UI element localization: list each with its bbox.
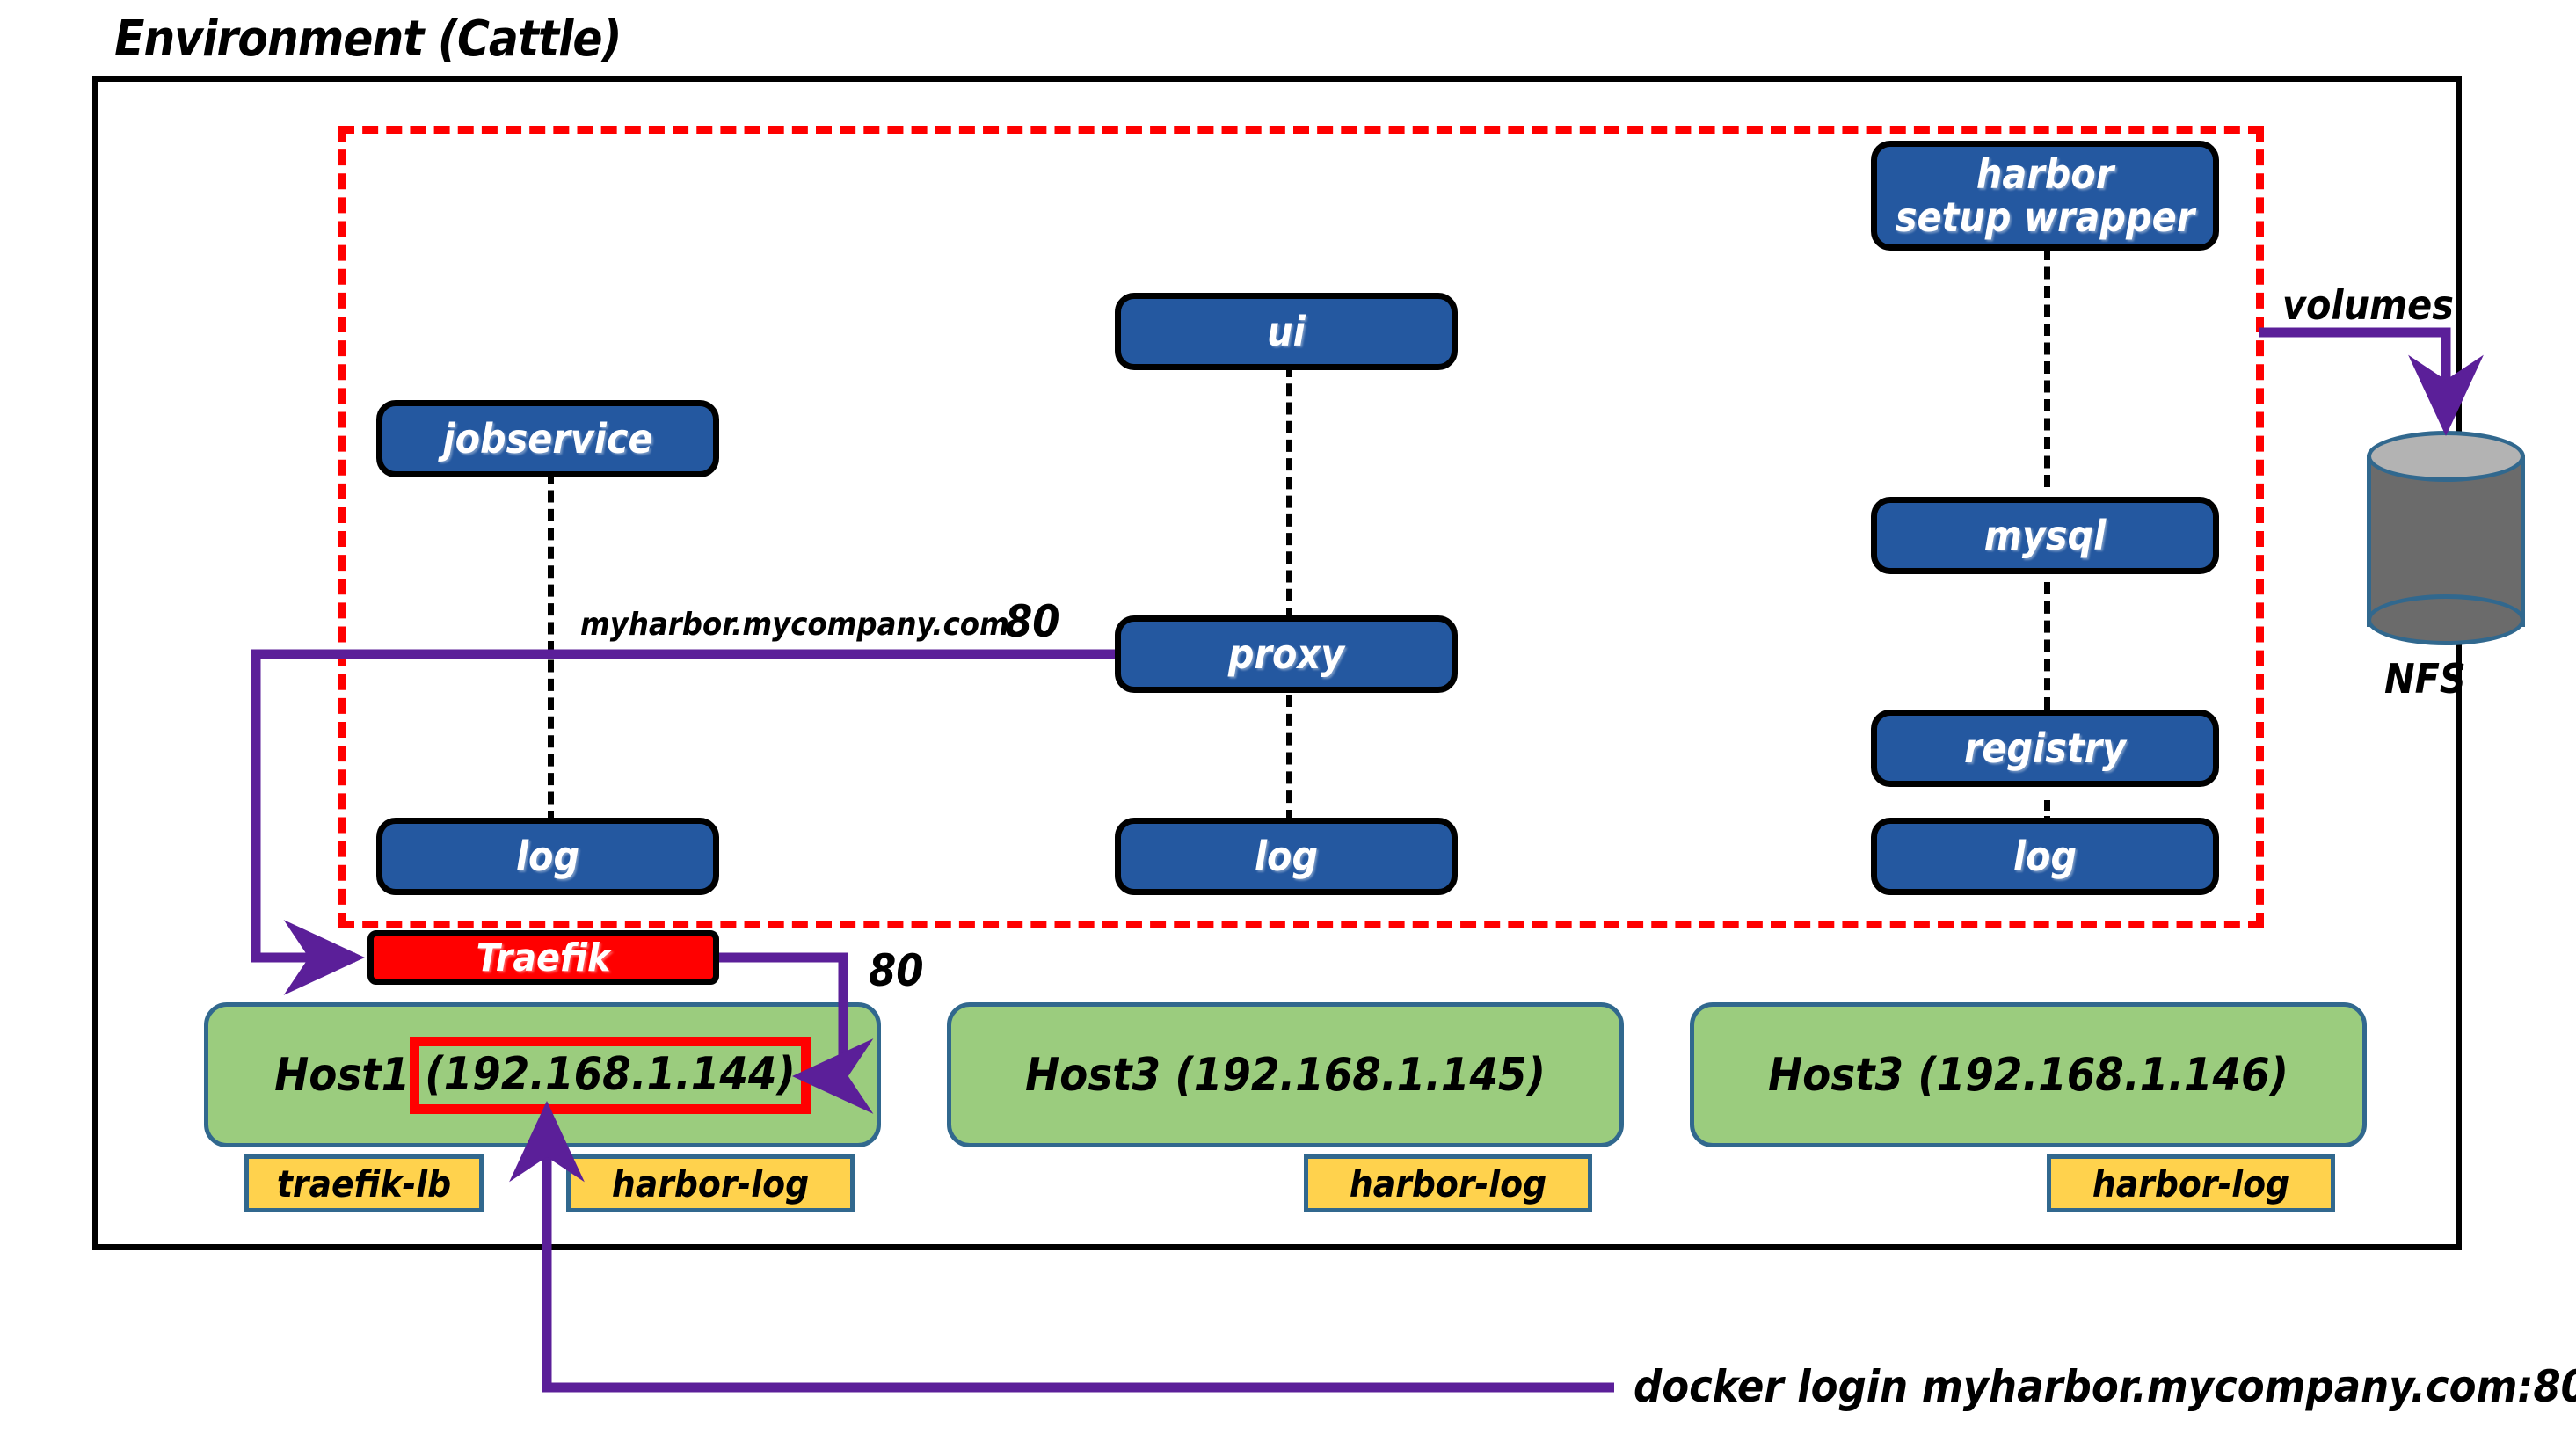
- volumes-label: volumes: [2282, 281, 2454, 329]
- diagram-canvas: Environment (Cattle) jobservice log ui p…: [0, 0, 2576, 1449]
- host-box-3[interactable]: Host3 (192.168.1.146): [1690, 1002, 2367, 1147]
- service-box-jobservice[interactable]: jobservice: [376, 400, 719, 477]
- docker-login-command: docker login myharbor.mycompany.com:80: [1634, 1361, 2576, 1412]
- traefik-box[interactable]: Traefik: [367, 930, 719, 985]
- service-box-registry[interactable]: registry: [1871, 710, 2219, 787]
- nfs-cylinder-bottom: [2367, 594, 2525, 645]
- service-box-log-right[interactable]: log: [1871, 818, 2219, 895]
- port-label-proxy: 80: [1005, 596, 1060, 647]
- host-1-ip-highlight: (192.168.1.144): [410, 1037, 811, 1114]
- connector-jobservice-log: [548, 471, 554, 823]
- nfs-label: NFS: [2384, 655, 2466, 703]
- port-label-traefik: 80: [869, 945, 924, 996]
- hostname-annotation: myharbor.mycompany.com: [580, 607, 1009, 643]
- service-box-ui[interactable]: ui: [1115, 293, 1458, 370]
- page-title: Environment (Cattle): [114, 11, 622, 68]
- connector-mysql-registry: [2044, 582, 2050, 710]
- connector-proxy-log: [1286, 695, 1292, 822]
- host-1-label-traefik-lb[interactable]: traefik-lb: [244, 1154, 484, 1212]
- connector-wrapper-mysql: [2044, 248, 2050, 487]
- service-box-mysql[interactable]: mysql: [1871, 497, 2219, 574]
- host-1-label-harbor-log[interactable]: harbor-log: [566, 1154, 855, 1212]
- service-box-log-middle[interactable]: log: [1115, 818, 1458, 895]
- connector-ui-proxy: [1286, 365, 1292, 620]
- host-box-1[interactable]: Host1 (192.168.1.144): [204, 1002, 881, 1147]
- service-box-proxy[interactable]: proxy: [1115, 615, 1458, 693]
- nfs-cylinder: [2367, 431, 2525, 651]
- host-3-label-harbor-log[interactable]: harbor-log: [2047, 1154, 2335, 1212]
- service-box-log-left[interactable]: log: [376, 818, 719, 895]
- host-1-name: Host1: [274, 1049, 410, 1102]
- host-box-2[interactable]: Host3 (192.168.1.145): [947, 1002, 1624, 1147]
- host-2-label-harbor-log[interactable]: harbor-log: [1304, 1154, 1592, 1212]
- nfs-cylinder-top: [2367, 431, 2525, 482]
- service-box-harbor-setup-wrapper[interactable]: harbor setup wrapper: [1871, 141, 2219, 251]
